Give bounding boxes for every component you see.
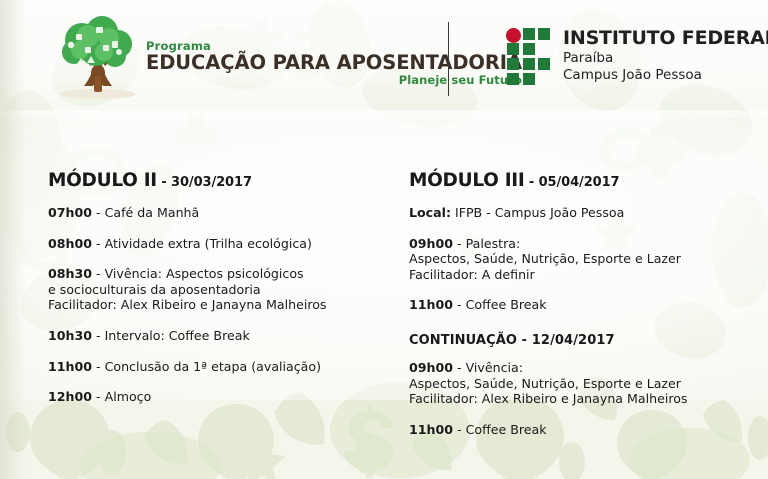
schedule-entry-line: Facilitador: Alex Ribeiro e Janayna Malh… bbox=[409, 391, 758, 407]
institute-campus: Campus João Pessoa bbox=[563, 69, 768, 83]
schedule-column-right: MÓDULO III - 05/04/2017 Local: IFPB - Ca… bbox=[0, 170, 768, 452]
schedule-entry-time: 11h00 bbox=[409, 422, 453, 437]
schedule-entry-line: Aspectos, Saúde, Nutrição, Esporte e Laz… bbox=[409, 376, 758, 392]
continuation-heading: CONTINUAÇÃO - 12/04/2017 bbox=[409, 333, 758, 348]
schedule-entry-time: 11h00 bbox=[409, 297, 453, 312]
schedule-entry-text: - Vivência: bbox=[453, 360, 523, 375]
schedule-entry-text: - Coffee Break bbox=[453, 297, 547, 312]
tree-logo-icon bbox=[52, 14, 144, 102]
schedule-entry: 09h00 - Palestra:Aspectos, Saúde, Nutriç… bbox=[409, 236, 758, 283]
schedule-entry-text: IFPB - Campus João Pessoa bbox=[451, 205, 624, 220]
module-date-right: - 05/04/2017 bbox=[524, 175, 619, 190]
schedule-entry-text: Facilitador: A definir bbox=[409, 267, 535, 282]
schedule-entry-text: Facilitador: Alex Ribeiro e Janayna Malh… bbox=[409, 391, 688, 406]
schedule-entry-text: Aspectos, Saúde, Nutrição, Esporte e Laz… bbox=[409, 376, 681, 391]
instituto-federal-mark-icon bbox=[506, 28, 552, 86]
schedule-entry: Local: IFPB - Campus João Pessoa bbox=[409, 205, 758, 221]
schedule-entry: 09h00 - Vivência:Aspectos, Saúde, Nutriç… bbox=[409, 360, 758, 407]
schedule-entry-text: - Coffee Break bbox=[453, 422, 547, 437]
program-logo: Programa EDUCAÇÃO PARA APOSENTADORIA Pla… bbox=[52, 14, 522, 102]
header-divider bbox=[448, 22, 449, 96]
page-header: Programa EDUCAÇÃO PARA APOSENTADORIA Pla… bbox=[0, 0, 768, 118]
schedule-body: MÓDULO II - 30/03/2017 07h00 - Café da M… bbox=[0, 170, 768, 452]
schedule-entry: 11h00 - Coffee Break bbox=[409, 297, 758, 313]
schedule-entry-text: - Palestra: bbox=[453, 236, 520, 251]
schedule-entry-line: Aspectos, Saúde, Nutrição, Esporte e Laz… bbox=[409, 251, 758, 267]
module-title-right: MÓDULO III bbox=[409, 170, 524, 191]
schedule-entry-time: Local: bbox=[409, 205, 451, 220]
schedule-entry-time: 09h00 bbox=[409, 236, 453, 251]
schedule-entry-time: 09h00 bbox=[409, 360, 453, 375]
schedule-entry-text: Aspectos, Saúde, Nutrição, Esporte e Laz… bbox=[409, 251, 681, 266]
schedule-entry-line: Local: IFPB - Campus João Pessoa bbox=[409, 205, 758, 221]
program-logo-main-text: EDUCAÇÃO PARA APOSENTADORIA bbox=[146, 53, 522, 73]
schedule-entry-line: 09h00 - Palestra: bbox=[409, 236, 758, 252]
schedule-entry-line: Facilitador: A definir bbox=[409, 267, 758, 283]
institute-logo: INSTITUTO FEDERAL Paraíba Campus João Pe… bbox=[506, 28, 768, 86]
right-entry-list-after: 09h00 - Vivência:Aspectos, Saúde, Nutriç… bbox=[409, 360, 758, 437]
institute-name: INSTITUTO FEDERAL bbox=[563, 29, 768, 48]
module-heading-right: MÓDULO III - 05/04/2017 bbox=[409, 170, 758, 191]
schedule-entry-line: 11h00 - Coffee Break bbox=[409, 297, 758, 313]
schedule-entry: 11h00 - Coffee Break bbox=[409, 422, 758, 438]
schedule-entry-line: 09h00 - Vivência: bbox=[409, 360, 758, 376]
right-entry-list-before: Local: IFPB - Campus João Pessoa09h00 - … bbox=[409, 205, 758, 313]
institute-state: Paraíba bbox=[563, 52, 768, 66]
program-logo-tagline: Planeje seu Futuro bbox=[146, 75, 522, 87]
schedule-entry-line: 11h00 - Coffee Break bbox=[409, 422, 758, 438]
